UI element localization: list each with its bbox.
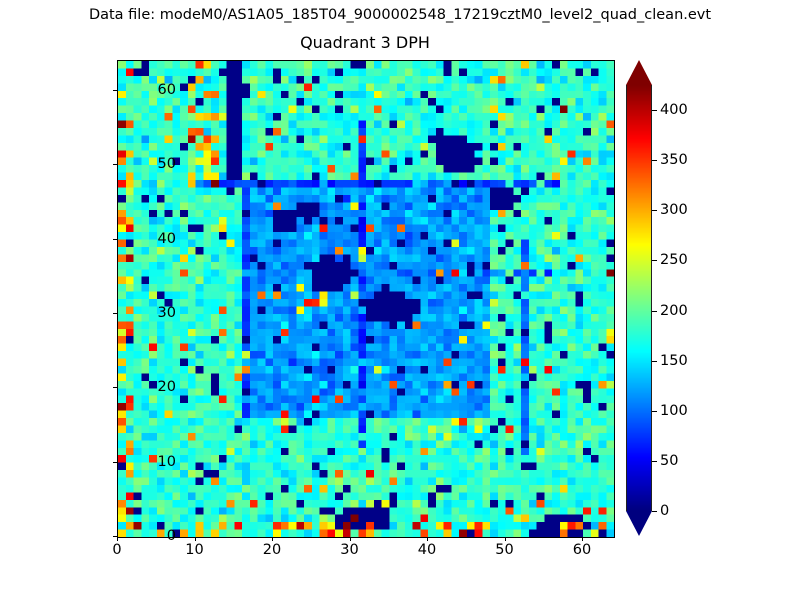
data-file-suptitle: Data file: modeM0/AS1A05_185T04_90000025… bbox=[0, 7, 800, 23]
colorbar-tick-label: 250 bbox=[660, 252, 688, 268]
x-tick-mark bbox=[117, 537, 118, 541]
colorbar-tick-mark bbox=[652, 160, 657, 161]
colorbar-gradient bbox=[626, 85, 652, 511]
colorbar-tick-label: 200 bbox=[660, 303, 688, 319]
colorbar-over-arrow-icon bbox=[626, 60, 652, 85]
x-tick-label: 0 bbox=[87, 542, 147, 558]
colorbar-tick-label: 50 bbox=[660, 453, 678, 469]
colorbar-tick-mark bbox=[652, 311, 657, 312]
y-tick-label: 30 bbox=[116, 305, 176, 321]
y-tick-mark bbox=[113, 387, 117, 388]
colorbar-tick-mark bbox=[652, 411, 657, 412]
y-tick-mark bbox=[113, 462, 117, 463]
y-tick-label: 10 bbox=[116, 454, 176, 470]
x-tick-mark bbox=[272, 537, 273, 541]
x-tick-mark bbox=[350, 537, 351, 541]
colorbar-under-arrow-icon bbox=[626, 511, 652, 536]
page-title: Quadrant 3 DPH bbox=[117, 33, 613, 52]
x-tick-label: 30 bbox=[320, 542, 380, 558]
colorbar-tick-mark bbox=[652, 210, 657, 211]
y-tick-label: 20 bbox=[116, 379, 176, 395]
colorbar-tick-mark bbox=[652, 110, 657, 111]
colorbar-tick-label: 400 bbox=[660, 102, 688, 118]
colorbar-tick-mark bbox=[652, 461, 657, 462]
x-tick-mark bbox=[505, 537, 506, 541]
y-tick-label: 40 bbox=[116, 231, 176, 247]
colorbar-tick-label: 150 bbox=[660, 353, 688, 369]
x-tick-label: 40 bbox=[397, 542, 457, 558]
y-tick-label: 50 bbox=[116, 156, 176, 172]
colorbar-tick-mark bbox=[652, 511, 657, 512]
x-tick-label: 60 bbox=[552, 542, 612, 558]
colorbar-tick-label: 100 bbox=[660, 403, 688, 419]
y-tick-label: 60 bbox=[116, 82, 176, 98]
x-tick-mark bbox=[427, 537, 428, 541]
matplotlib-figure: Data file: modeM0/AS1A05_185T04_90000025… bbox=[0, 0, 800, 600]
x-tick-label: 50 bbox=[475, 542, 535, 558]
y-tick-mark bbox=[113, 313, 117, 314]
x-tick-label: 10 bbox=[165, 542, 225, 558]
colorbar-tick-mark bbox=[652, 260, 657, 261]
colorbar-tick-label: 350 bbox=[660, 152, 688, 168]
detector-heatmap-image[interactable] bbox=[118, 61, 614, 537]
colorbar-tick-mark bbox=[652, 361, 657, 362]
heatmap-axes[interactable] bbox=[117, 60, 615, 538]
y-tick-mark bbox=[113, 90, 117, 91]
colorbar-tick-label: 0 bbox=[660, 503, 669, 519]
colorbar[interactable] bbox=[626, 60, 652, 536]
x-tick-mark bbox=[195, 537, 196, 541]
x-tick-label: 20 bbox=[242, 542, 302, 558]
x-tick-mark bbox=[582, 537, 583, 541]
y-tick-mark bbox=[113, 239, 117, 240]
colorbar-tick-label: 300 bbox=[660, 202, 688, 218]
y-tick-mark bbox=[113, 164, 117, 165]
